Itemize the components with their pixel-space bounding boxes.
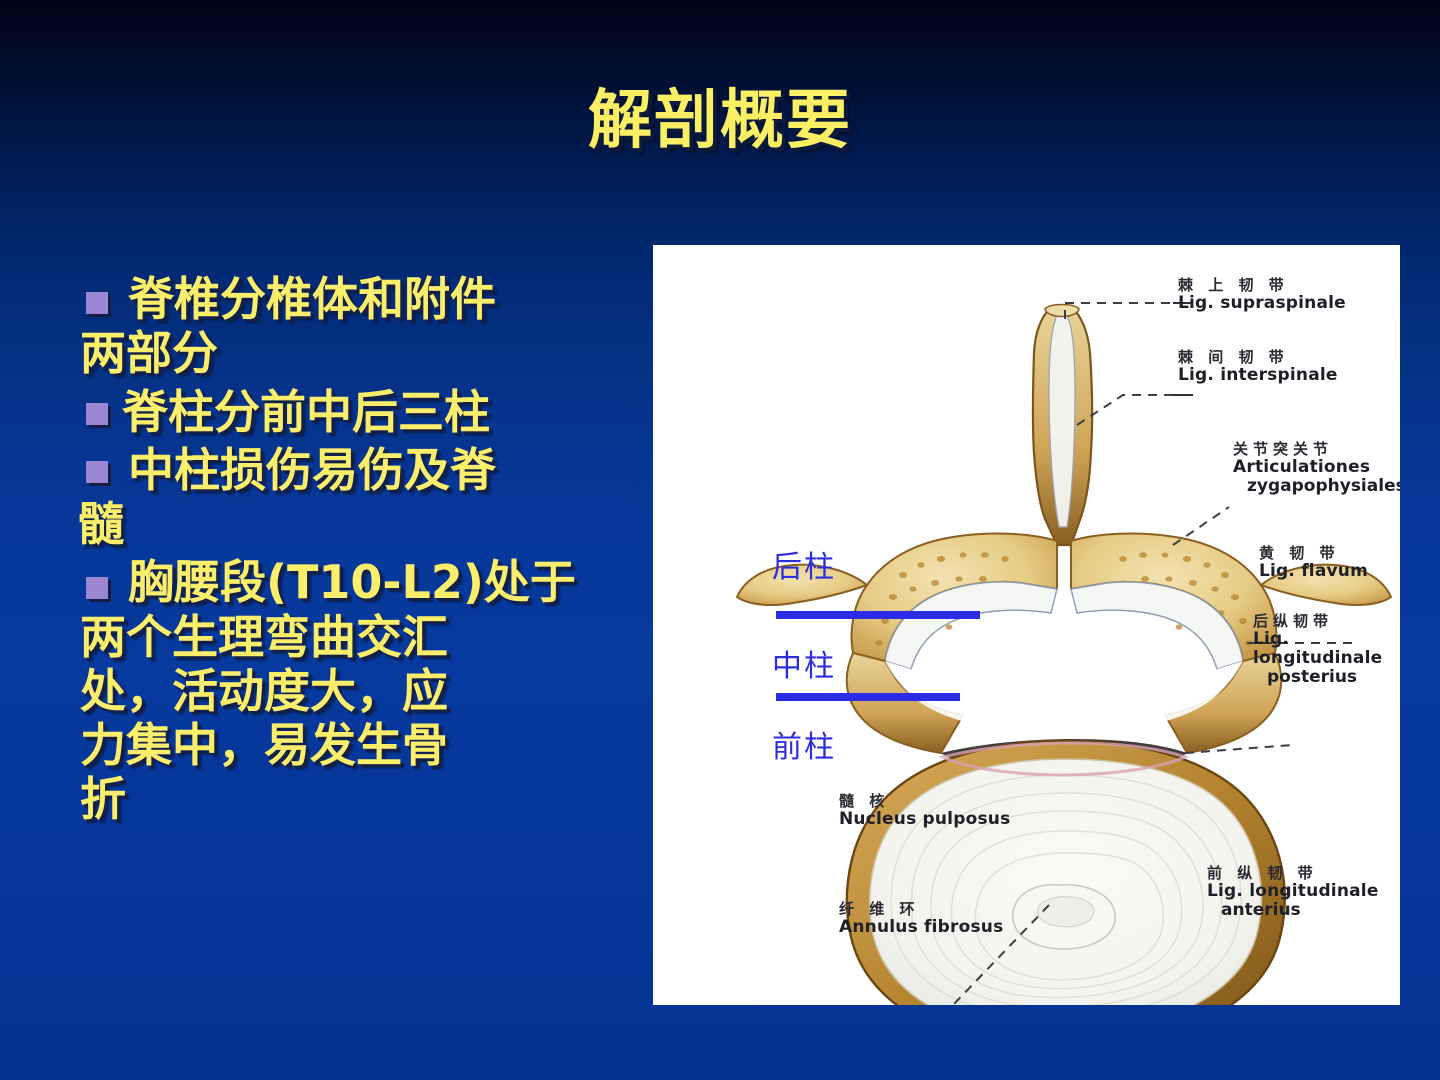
square-bullet-icon xyxy=(86,461,108,483)
anatomy-figure-panel: 棘 上 韧 带 Lig. supraspinale 棘 间 韧 带 Lig. i… xyxy=(653,245,1400,1005)
label-supraspinous-ligament: 棘 上 韧 带 Lig. supraspinale xyxy=(1178,277,1346,313)
label-ligamentum-flavum: 黄 韧 带 Lig. flavum xyxy=(1259,545,1368,581)
list-item[interactable]: 中柱损伤易伤及脊髓 xyxy=(78,443,658,552)
list-item[interactable]: 脊椎分椎体和附件两部分 xyxy=(78,272,658,381)
list-item-text: 脊柱分前中后三柱 xyxy=(78,385,658,439)
column-divider-middle-anterior xyxy=(776,693,960,701)
list-item[interactable]: 胸腰段(T10-L2)处于两个生理弯曲交汇处，活动度大，应力集中，易发生骨折 xyxy=(78,555,658,826)
column-divider-posterior-middle xyxy=(776,611,980,619)
column-label-middle: 中柱 xyxy=(772,641,836,685)
list-item-text: 中柱损伤易伤及脊髓 xyxy=(78,443,658,552)
label-zygapophysial-joint: 关节突关节 Articulationes zygapophysiales xyxy=(1233,441,1400,496)
list-item-text: 脊椎分椎体和附件两部分 xyxy=(78,272,658,381)
label-anterior-longitudinal-ligament: 前 纵 韧 带 Lig. longitudinale anterius xyxy=(1207,865,1379,920)
list-item-text: 胸腰段(T10-L2)处于两个生理弯曲交汇处，活动度大，应力集中，易发生骨折 xyxy=(78,555,658,826)
label-posterior-longitudinal-ligament: 后纵韧带 Lig. longitudinale posterius xyxy=(1253,613,1400,687)
list-item[interactable]: 脊柱分前中后三柱 xyxy=(78,385,658,439)
square-bullet-icon xyxy=(86,292,108,314)
label-annulus-fibrosus: 纤 维 环 Annulus fibrosus xyxy=(839,901,1003,937)
label-nucleus-pulposus: 髓 核 Nucleus pulposus xyxy=(839,793,1010,829)
label-interspinous-ligament: 棘 间 韧 带 Lig. interspinale xyxy=(1178,349,1338,385)
column-label-anterior: 前柱 xyxy=(772,722,836,766)
square-bullet-icon xyxy=(86,403,108,425)
page-title: 解剖概要 xyxy=(0,88,1440,155)
bullet-list: 脊椎分椎体和附件两部分 脊柱分前中后三柱 中柱损伤易伤及脊髓 胸腰段(T10-L… xyxy=(78,272,658,831)
slide: 解剖概要 脊椎分椎体和附件两部分 脊柱分前中后三柱 中柱损伤易伤及脊髓 胸腰段(… xyxy=(0,0,1440,1080)
square-bullet-icon xyxy=(86,577,108,599)
column-label-posterior: 后柱 xyxy=(772,542,836,586)
